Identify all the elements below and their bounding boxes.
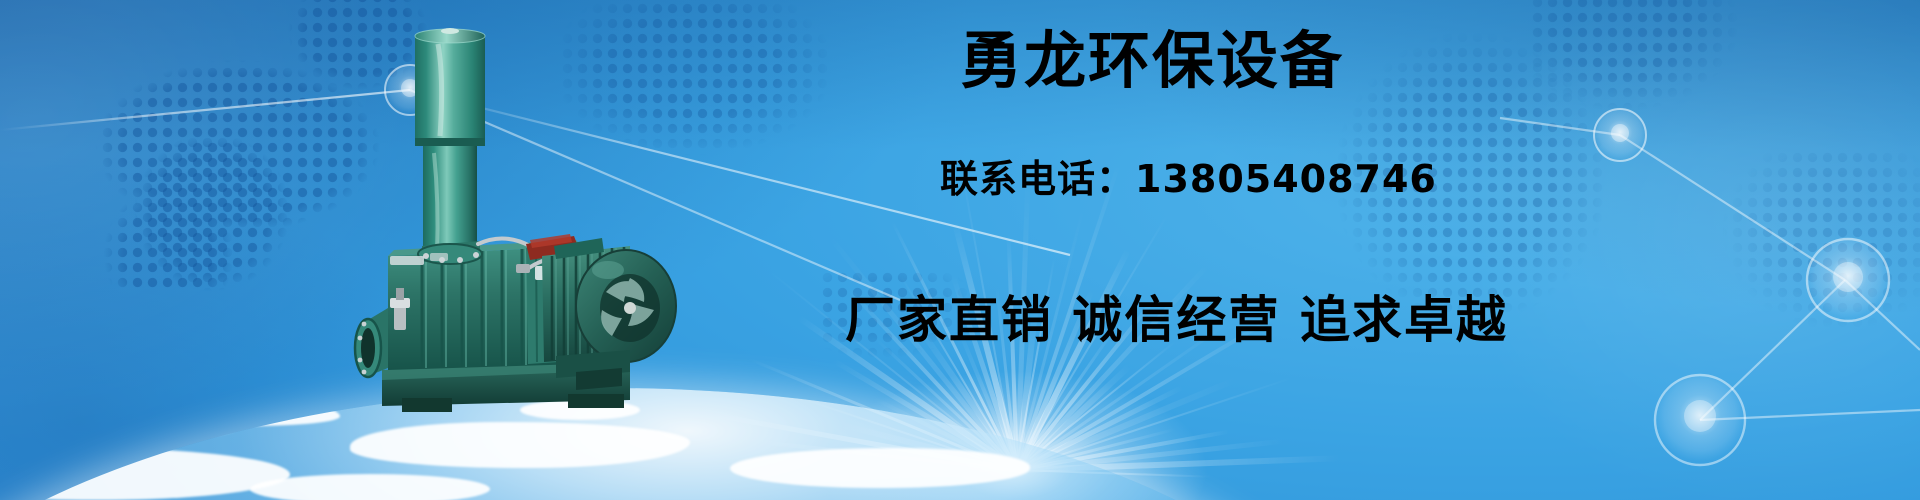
network-node-icon bbox=[1806, 238, 1890, 322]
slogan-text: 厂家直销 诚信经营 追求卓越 bbox=[845, 295, 1508, 345]
promotional-banner: 勇龙环保设备 联系电话：13805408746 厂家直销 诚信经营 追求卓越 bbox=[0, 0, 1920, 500]
contact-phone-line: 联系电话：13805408746 bbox=[940, 160, 1437, 198]
cooling-fan bbox=[576, 250, 676, 362]
roots-blower-product-image bbox=[330, 8, 750, 438]
network-node-icon bbox=[1654, 374, 1746, 466]
silencer-cylinder bbox=[415, 28, 485, 258]
inlet-flange bbox=[355, 308, 388, 377]
network-node-icon bbox=[1593, 108, 1647, 162]
page-title: 勇龙环保设备 bbox=[960, 30, 1344, 92]
